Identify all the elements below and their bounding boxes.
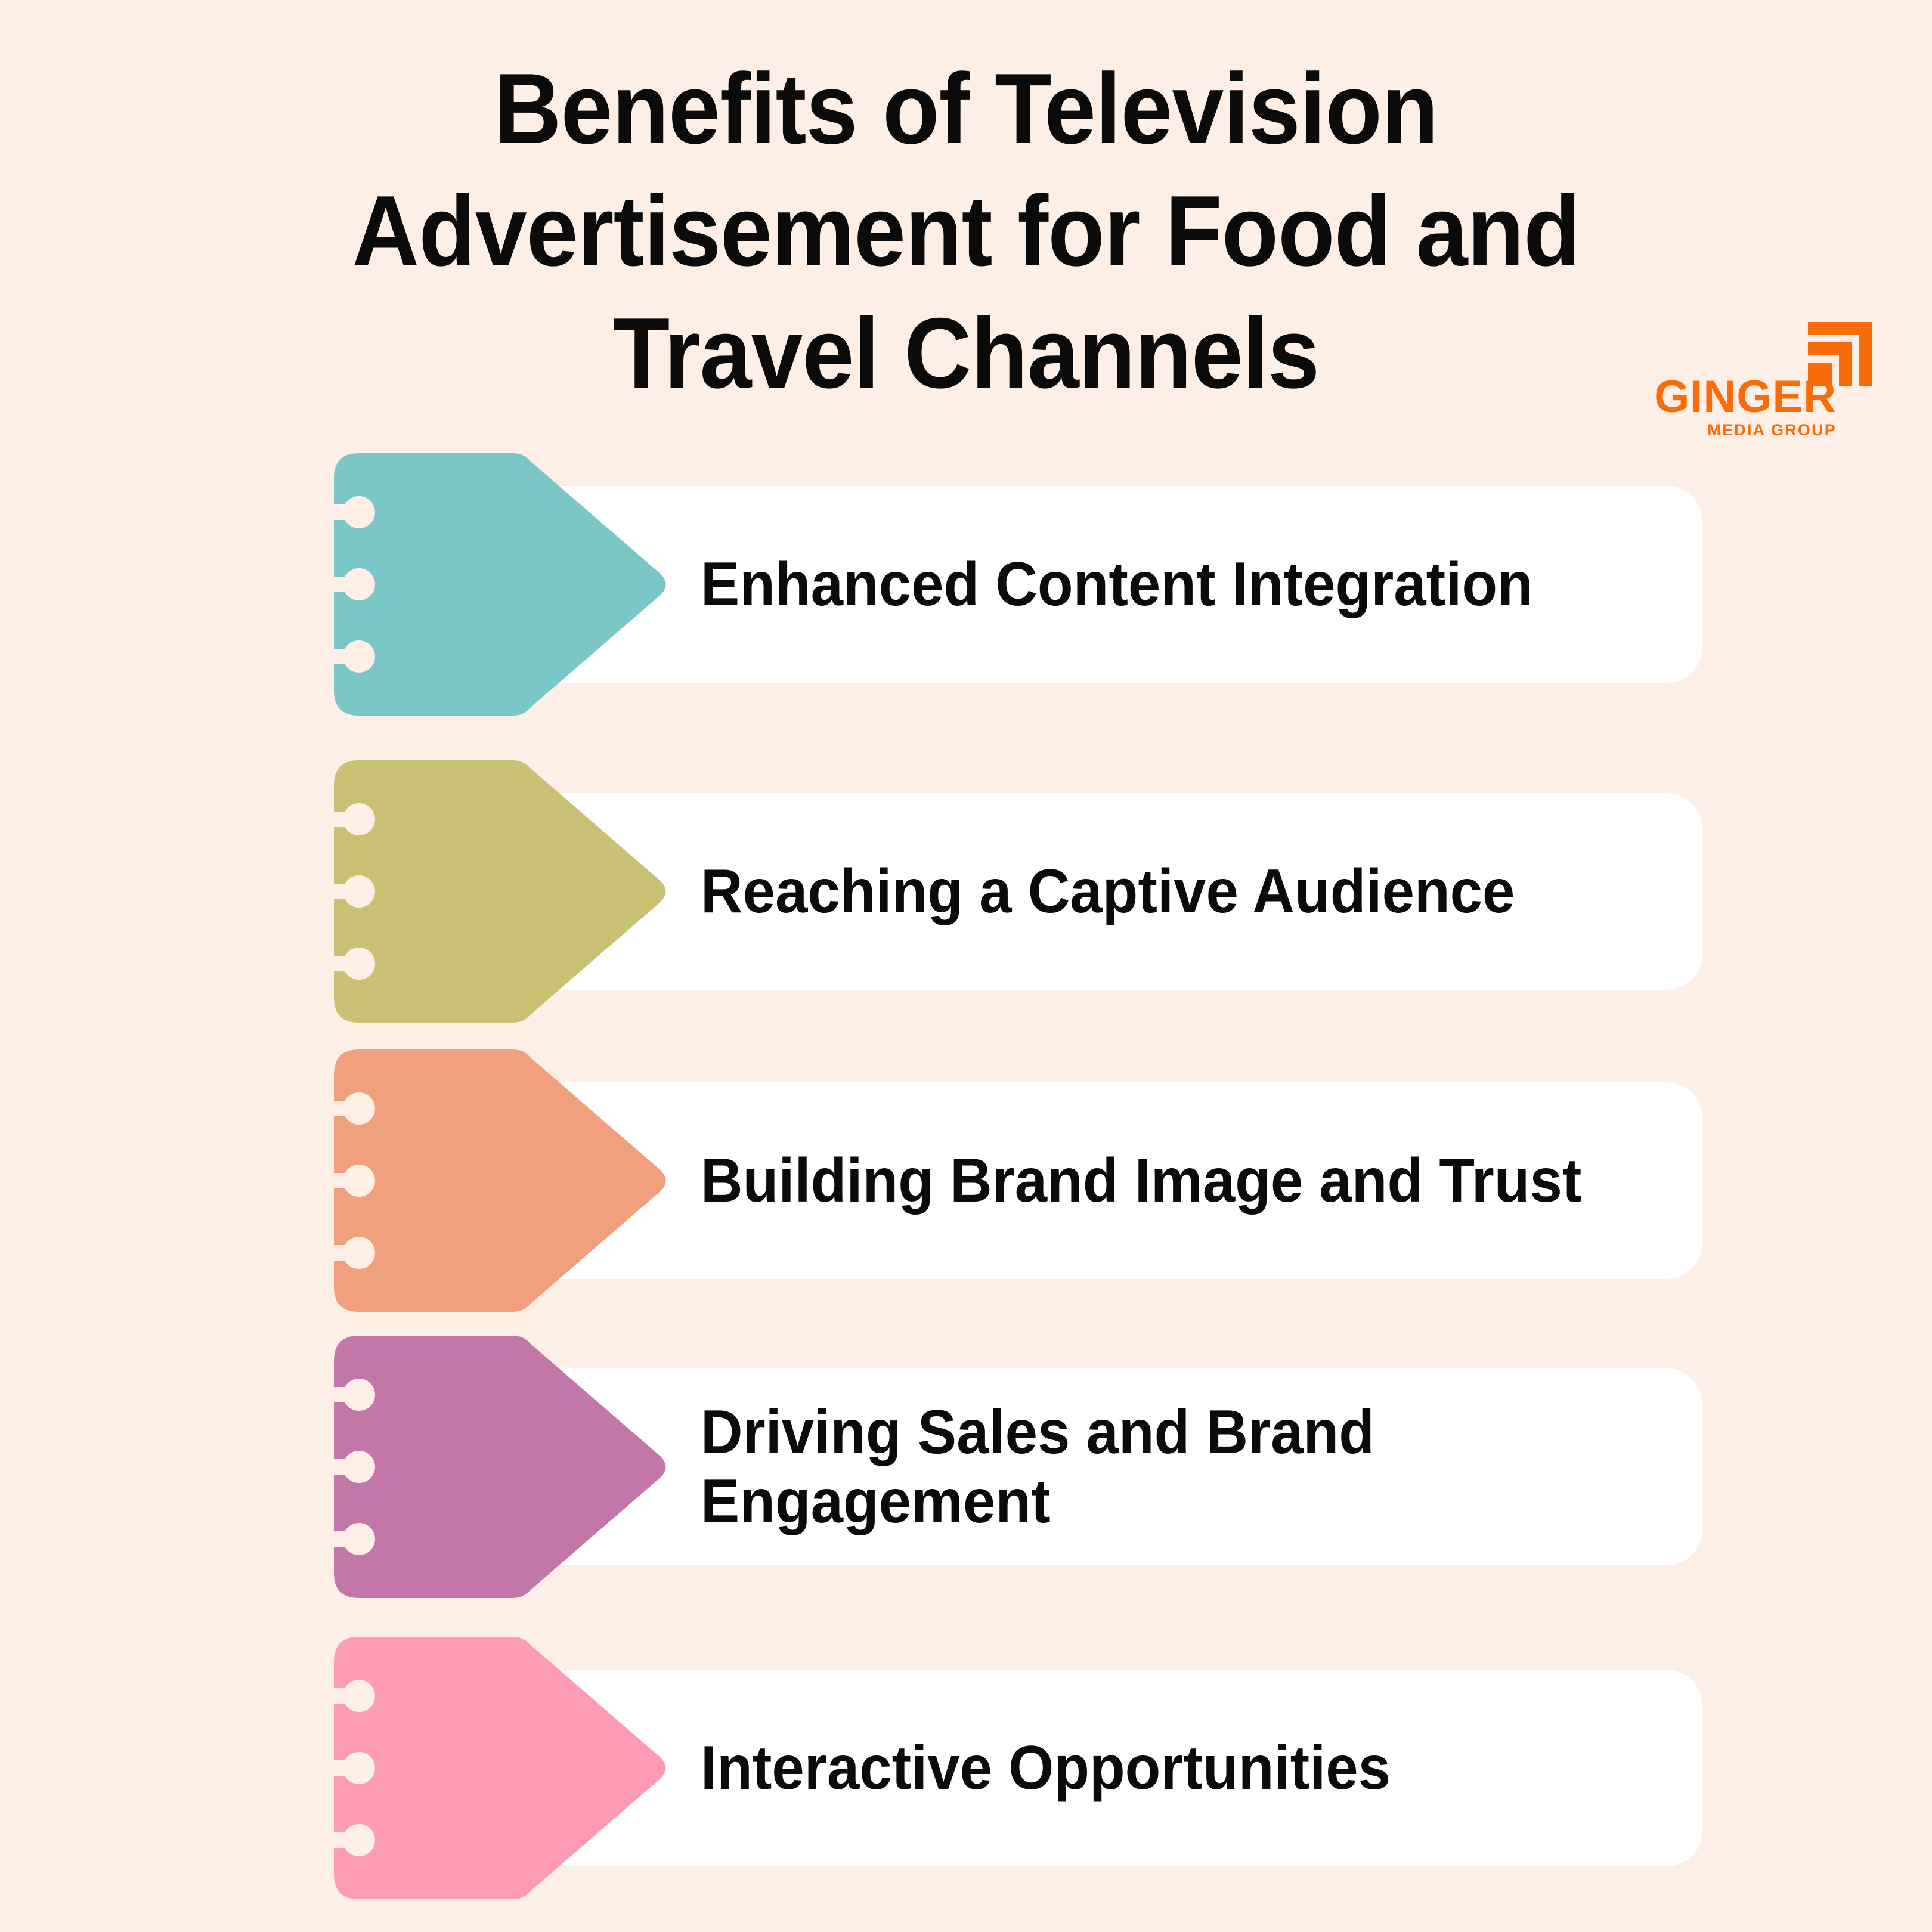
list-item-arrow-tag xyxy=(334,1049,668,1312)
list-item-arrow-tag xyxy=(334,1637,668,1899)
list-item-arrow-tag xyxy=(334,1336,668,1598)
list-item-label: Reaching a Captive Audience xyxy=(701,760,1597,1023)
list-item[interactable]: Enhanced Content Integration xyxy=(0,453,1932,716)
list-item-label: Driving Sales and Brand Engagement xyxy=(701,1336,1597,1598)
list-item-label: Enhanced Content Integration xyxy=(701,453,1597,716)
list-item-arrow-tag xyxy=(334,453,668,716)
list-item[interactable]: Driving Sales and Brand Engagement xyxy=(0,1336,1932,1598)
benefits-list: Enhanced Content Integration xyxy=(0,0,1932,1932)
list-item-label: Interactive Opportunities xyxy=(701,1637,1597,1899)
infographic-poster: Benefits of Television Advertisement for… xyxy=(0,0,1932,1932)
list-item[interactable]: Interactive Opportunities xyxy=(0,1637,1932,1899)
list-item-label: Building Brand Image and Trust xyxy=(701,1049,1597,1312)
list-item[interactable]: Building Brand Image and Trust xyxy=(0,1049,1932,1312)
list-item[interactable]: Reaching a Captive Audience xyxy=(0,760,1932,1023)
list-item-arrow-tag xyxy=(334,760,668,1023)
